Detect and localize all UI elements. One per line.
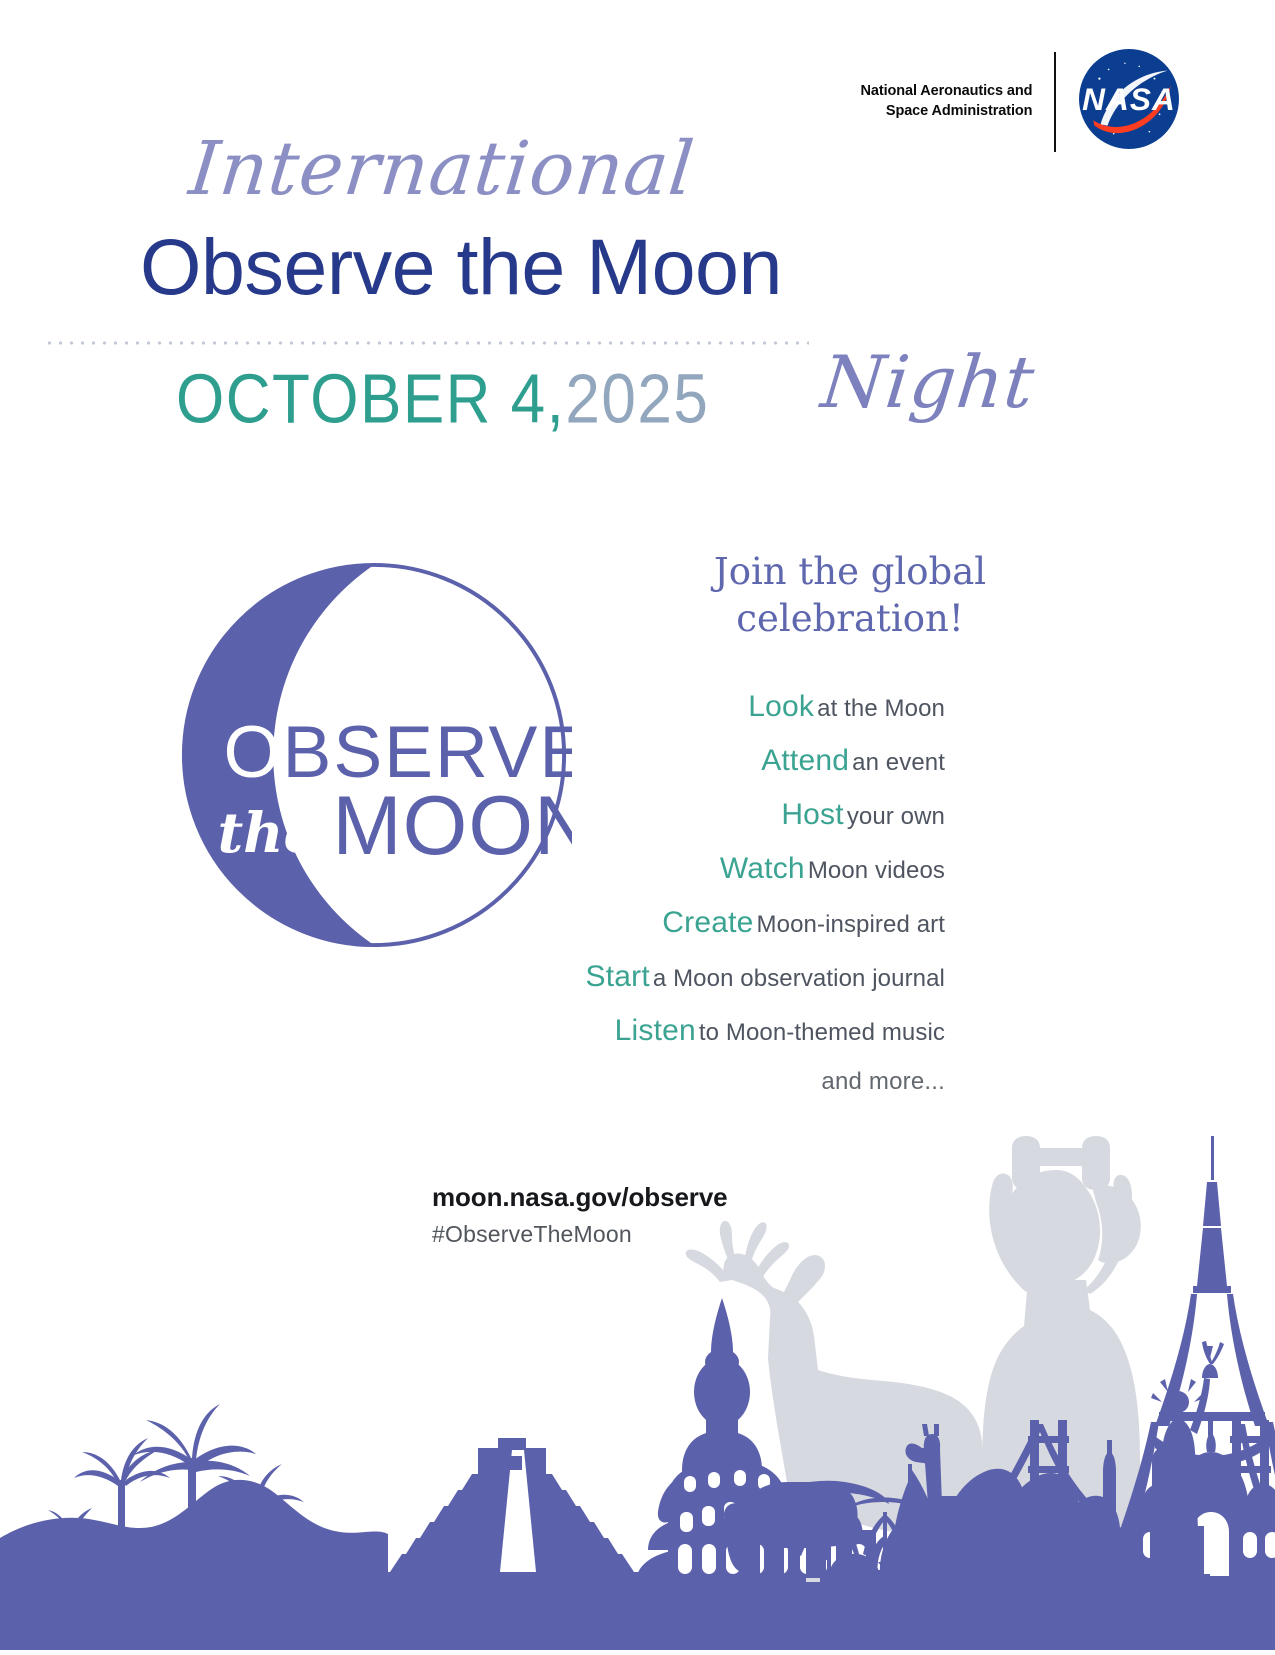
header-divider	[1054, 52, 1056, 152]
title-line-international: International	[185, 126, 698, 212]
activity-detail: Moon videos	[808, 857, 945, 884]
activity-verb: Attend	[761, 744, 849, 777]
nasa-header: National Aeronautics and Space Administr…	[861, 48, 1181, 155]
activity-detail: an event	[852, 749, 945, 776]
activity-verb: Create	[662, 906, 753, 939]
title-line-observe-the-moon: Observe the Moon	[140, 221, 782, 313]
activity-verb: Host	[781, 798, 844, 831]
nasa-wordmark-text: National Aeronautics and Space Administr…	[861, 82, 1055, 121]
dotted-divider	[44, 341, 809, 345]
activity-item: Attendan event	[330, 744, 945, 778]
mayan-pyramid	[372, 1438, 652, 1590]
join-celebration-heading: Join the global celebration!	[650, 548, 1050, 643]
activity-detail: a Moon observation journal	[653, 965, 945, 992]
activity-item: Lookat the Moon	[330, 690, 945, 724]
activity-detail: to Moon-themed music	[699, 1019, 945, 1046]
ground-band	[0, 1582, 1275, 1650]
activity-verb: Look	[748, 690, 814, 723]
join-heading-line1: Join the global	[714, 550, 986, 593]
world-landmarks-skyline	[0, 1130, 1275, 1650]
activity-item: Listento Moon-themed music	[330, 1014, 945, 1048]
activity-detail: at the Moon	[817, 695, 945, 722]
activity-verb: Watch	[720, 852, 805, 885]
activity-verb: Start	[586, 960, 650, 993]
activity-item: WatchMoon videos	[330, 852, 945, 886]
activity-item: Hostyour own	[330, 798, 945, 832]
activity-detail: Moon-inspired art	[757, 911, 945, 938]
title-line-night: Night	[818, 340, 1039, 424]
activity-list: Lookat the Moon Attendan event Hostyour …	[330, 690, 945, 1096]
and-more-text: and more...	[330, 1068, 945, 1096]
activity-item: Starta Moon observation journal	[330, 960, 945, 994]
svg-text:NASA: NASA	[1082, 81, 1176, 117]
palm-trees-and-hills	[0, 1404, 388, 1590]
event-date-main: OCTOBER 4,	[176, 361, 565, 438]
event-date: OCTOBER 4,2025	[176, 360, 709, 440]
join-heading-line2: celebration!	[736, 597, 963, 640]
event-date-year: 2025	[565, 361, 709, 438]
activity-detail: your own	[847, 803, 945, 830]
activity-item: CreateMoon-inspired art	[330, 906, 945, 940]
logo-word-the: the	[218, 801, 319, 866]
activity-verb: Listen	[615, 1014, 696, 1047]
nasa-logo-icon: NASA	[1078, 48, 1180, 155]
